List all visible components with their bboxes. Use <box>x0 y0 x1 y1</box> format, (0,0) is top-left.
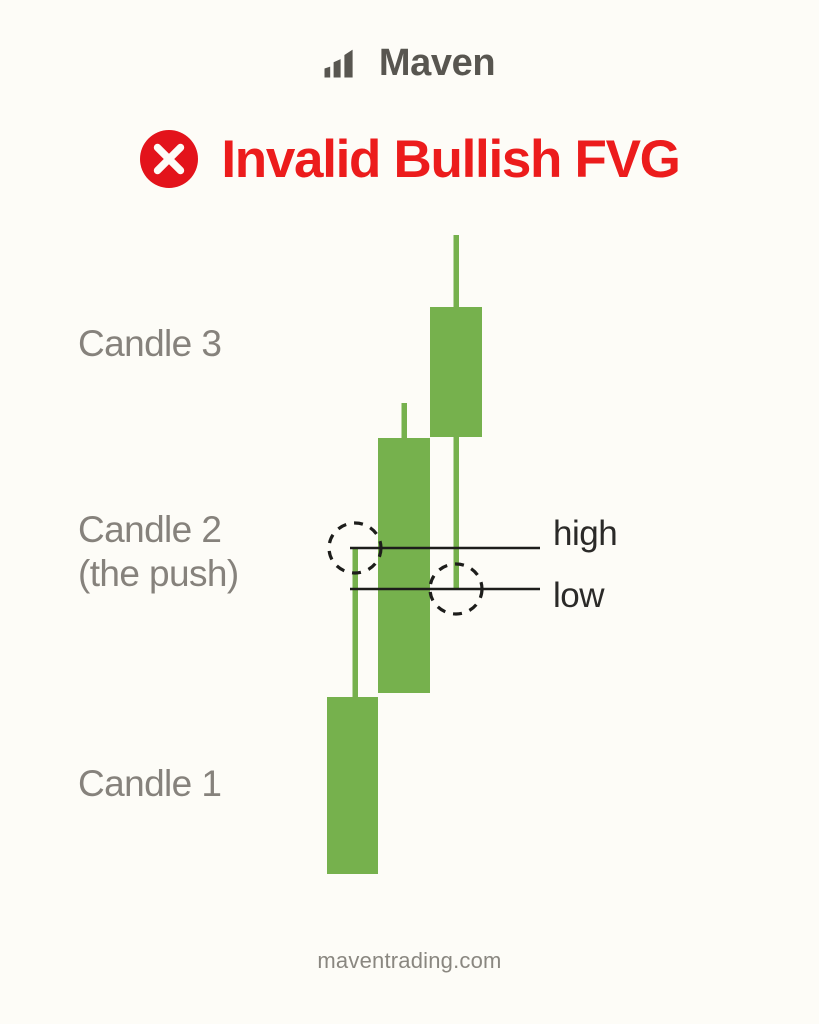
candlestick-chart <box>0 0 819 1024</box>
footer-website: maventrading.com <box>0 948 819 974</box>
candle-1-body <box>327 697 378 874</box>
candle-3-body <box>430 307 482 437</box>
high-annotation <box>329 523 540 573</box>
candle-3 <box>430 235 482 590</box>
candle-2-body <box>378 438 430 693</box>
candle-1 <box>327 547 378 874</box>
infographic-page: Maven Invalid Bullish FVG Candle 3 Candl… <box>0 0 819 1024</box>
